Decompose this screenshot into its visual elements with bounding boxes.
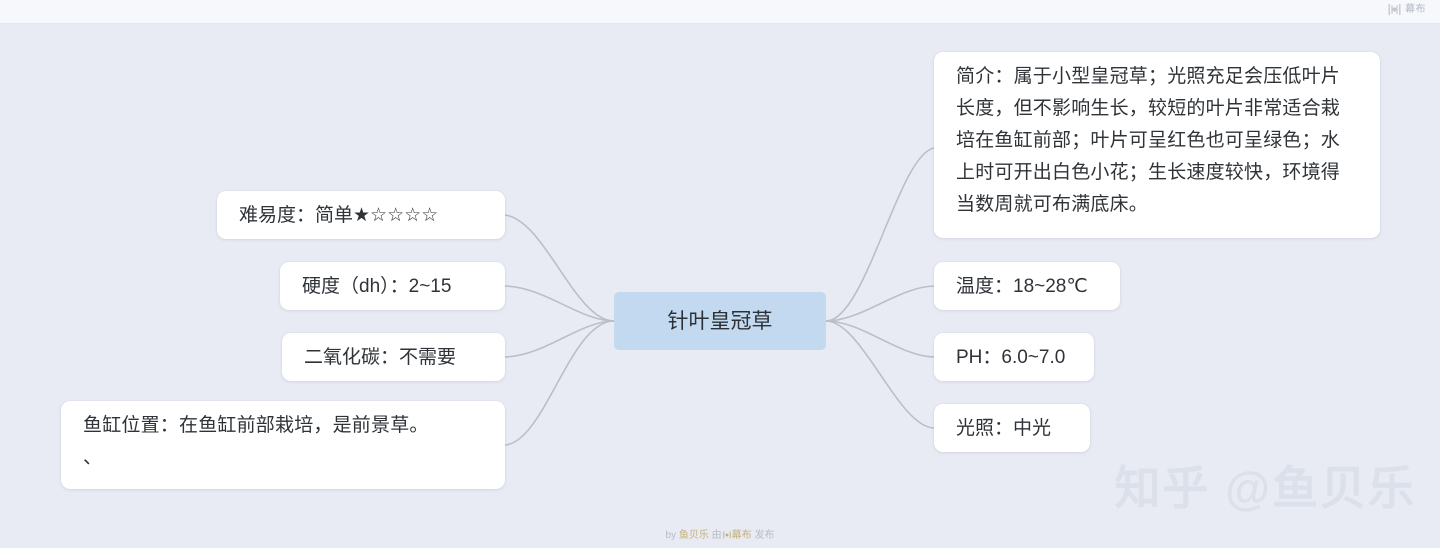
connector-temperature xyxy=(826,286,934,321)
node-co2[interactable]: 二氧化碳：不需要 xyxy=(282,333,505,381)
footer-prefix: by xyxy=(666,530,679,541)
node-ph[interactable]: PH：6.0~7.0 xyxy=(934,333,1094,381)
connector-position xyxy=(505,321,614,445)
connector-intro xyxy=(826,148,934,321)
mubu-brand[interactable]: 幕布 xyxy=(1388,3,1426,16)
footer-tool-link[interactable]: 幕布 xyxy=(732,530,752,541)
connector-difficulty xyxy=(505,215,614,321)
footer-suffix: 发布 xyxy=(752,530,775,541)
mubu-brand-label: 幕布 xyxy=(1405,3,1426,16)
top-bar: 幕布 xyxy=(0,0,1440,24)
node-tank-position[interactable]: 鱼缸位置：在鱼缸前部栽培，是前景草。 、 xyxy=(61,401,505,489)
connector-ph xyxy=(826,321,934,357)
footer-author-link[interactable]: 鱼贝乐 xyxy=(679,530,709,541)
mubu-mini-logo-icon xyxy=(723,531,731,542)
connector-co2 xyxy=(505,321,614,357)
node-light[interactable]: 光照：中光 xyxy=(934,404,1090,452)
node-center-topic[interactable]: 针叶皇冠草 xyxy=(614,292,826,350)
footer-middle: 由 xyxy=(709,530,722,541)
zhihu-watermark: 知乎 @鱼贝乐 xyxy=(1114,452,1416,518)
node-hardness[interactable]: 硬度（dh）：2~15 xyxy=(280,262,505,310)
connector-hardness xyxy=(505,286,614,321)
mubu-logo-icon xyxy=(1388,3,1401,16)
node-intro[interactable]: 简介：属于小型皇冠草；光照充足会压低叶片长度，但不影响生长，较短的叶片非常适合栽… xyxy=(934,52,1380,238)
node-difficulty[interactable]: 难易度：简单★☆☆☆☆ xyxy=(217,191,505,239)
node-temperature[interactable]: 温度：18~28℃ xyxy=(934,262,1120,310)
footer-attribution: by 鱼贝乐 由 幕布 发布 xyxy=(0,526,1440,542)
connector-light xyxy=(826,321,934,428)
